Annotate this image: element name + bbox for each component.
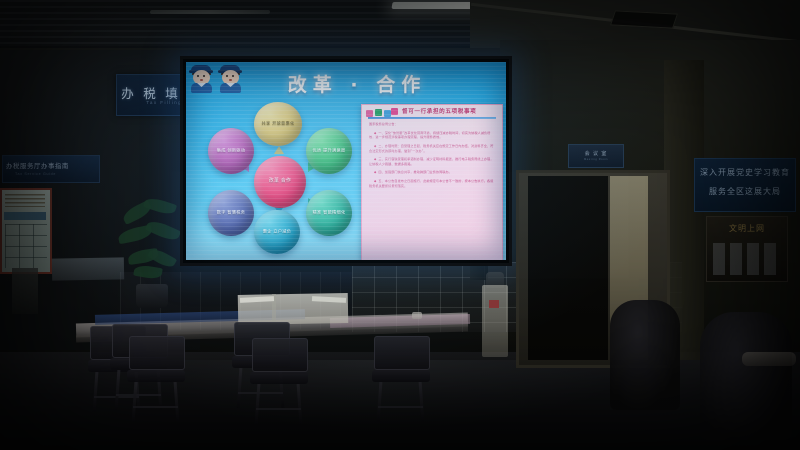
bubble-diagram: 共享 开放普惠化 集成 创新驱动 优质 提升满意度 改革 合作 数字 智慧税务 …	[208, 102, 358, 254]
chair-6[interactable]	[370, 336, 432, 422]
tax-mascot-male-icon	[217, 64, 244, 93]
bubble-bottom: 惠企 立户减负	[254, 210, 300, 254]
chair-5[interactable]	[248, 338, 310, 424]
bubble-upper-right: 优质 提升满意度	[306, 128, 352, 174]
tax-mascot-female-icon	[188, 64, 215, 93]
door-sign-meeting-room: 会 议 室 Meeting Room	[568, 144, 624, 168]
magenta-chip-icon	[391, 108, 398, 115]
ceiling-light-strip-secondary	[150, 10, 270, 14]
bubble-top-label: 共享 开放普惠化	[261, 120, 294, 126]
potted-plant	[116, 196, 186, 308]
poster-stand	[12, 268, 38, 314]
water-dispenser-label	[489, 300, 499, 308]
wall-banner-line-2: 服务全区这展大局	[695, 186, 795, 197]
blue-chip-icon	[384, 110, 391, 117]
bubble-upper-left: 集成 创新驱动	[208, 128, 254, 174]
document-paragraph: 一、深化“放管服”改革优化营商环境，持续压减办税时间，切实为纳税人减负增效，进一…	[369, 131, 496, 140]
presentation-slide: 改革 · 合作 共享 开放普惠化 集成 创新驱动 优质 提升满意度 改革 合作 …	[186, 62, 506, 260]
door-sign-chinese: 会 议 室	[569, 150, 623, 157]
bubble-center-label: 改革 合作	[269, 178, 291, 185]
slide-mascot-group	[188, 64, 246, 94]
document-title-rule	[368, 117, 496, 119]
pink-chip-icon	[366, 110, 373, 117]
right-board-grid	[713, 243, 781, 275]
wall-sign-service-guide: 办税服务厅办事指南 Tax Service Guide	[2, 155, 100, 183]
bubble-lower-right: 精准 智能精细化	[306, 190, 352, 236]
bubble-lower-left-label: 数字 智慧税务	[217, 209, 246, 215]
slide-title: 改革 · 合作	[272, 70, 442, 97]
right-display-board: 文明上网	[706, 216, 788, 282]
bubble-lower-left: 数字 智慧税务	[208, 190, 254, 236]
bubble-lower-right-label: 精准 智能精细化	[312, 209, 345, 215]
door-panel-open[interactable]	[528, 176, 608, 360]
bubble-upper-left-label: 集成 创新驱动	[217, 147, 246, 153]
document-paragraph: 三、实行容缺受理和承诺制办理，减少证明材料报送，推行电子税务局线上办理，让纳税人…	[369, 157, 496, 166]
document-chip-group	[366, 108, 402, 117]
bubble-center: 改革 合作	[254, 156, 306, 208]
arrow-up-icon	[274, 146, 284, 154]
document-paragraph: 四、加强部门信息共享，推动跨部门业务协同联办。	[369, 170, 496, 175]
right-board-title: 文明上网	[707, 223, 787, 234]
green-chip-icon	[375, 109, 382, 116]
bubble-top: 共享 开放普惠化	[254, 102, 302, 146]
led-video-wall[interactable]: 改革 · 合作 共享 开放普惠化 集成 创新驱动 优质 提升满意度 改革 合作 …	[180, 56, 512, 266]
document-title: 督可一行承担的五项税事项	[402, 107, 498, 115]
poster-header-lines	[5, 194, 45, 207]
slide-document-panel: 督可一行承担的五项税事项 国家税务总局公告： 一、深化“放管服”改革优化营商环境…	[361, 104, 503, 260]
document-body: 国家税务总局公告： 一、深化“放管服”改革优化营商环境，持续压减办税时间，切实为…	[369, 122, 496, 259]
poster-table-grid	[5, 224, 47, 268]
wall-sign-service-guide-en: Tax Service Guide	[15, 172, 56, 176]
cup-on-table	[412, 312, 422, 319]
office-chair-right-1[interactable]	[610, 300, 680, 410]
bubble-bottom-label: 惠企 立户减负	[263, 228, 292, 234]
wall-banner-slogan: 深入开展党史学习教育 服务全区这展大局	[694, 158, 796, 212]
door-sign-english: Meeting Room	[569, 158, 623, 161]
information-poster-board	[0, 188, 52, 274]
bubble-upper-right-label: 优质 提升满意度	[312, 147, 345, 153]
wall-banner-line-1: 深入开展党史学习教育	[695, 167, 795, 178]
wall-sign-service-guide-cn: 办税服务厅办事指南	[6, 161, 69, 170]
room-photo-scene: 办税服务厅办事指南 Tax Service Guide 办 税 填 表 区 Ta…	[0, 0, 800, 450]
water-dispenser	[482, 285, 508, 357]
ceiling-air-vent	[610, 10, 678, 28]
plant-pot	[136, 284, 168, 308]
document-paragraph: 五、本公告自发布之日起施行，此前规定与本公告不一致的，按本公告执行。各级税务机关…	[369, 179, 496, 188]
chair-4[interactable]	[125, 336, 187, 422]
document-paragraph: 国家税务总局公告：	[369, 122, 496, 127]
document-paragraph: 二、办理时限：自受理之日起，税务机关应在规定工作日内办结，对资料齐全、符合法定形…	[369, 144, 496, 153]
office-chair-right-2[interactable]	[700, 312, 792, 440]
poster-color-band	[4, 212, 46, 220]
left-counter	[52, 257, 124, 280]
office-chair-armrest	[742, 352, 796, 366]
